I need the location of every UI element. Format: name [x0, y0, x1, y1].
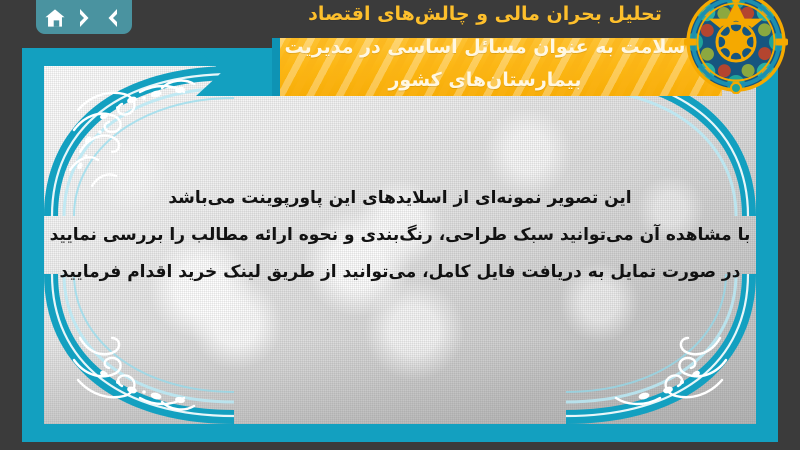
slide-canvas: این تصویر نمونه‌ای از اسلایدهای این پاور…: [22, 48, 778, 442]
bottom-shade: [44, 340, 756, 424]
slide-nav-controls: [36, 0, 132, 34]
triangle-right-icon[interactable]: [73, 6, 95, 30]
presentation-viewer: این تصویر نمونه‌ای از اسلایدهای این پاور…: [0, 0, 800, 450]
triangle-left-icon[interactable]: [102, 6, 124, 30]
title-line: تحلیل بحران مالی و چالش‌های اقتصاد: [250, 0, 720, 31]
slide-body-text: این تصویر نمونه‌ای از اسلایدهای این پاور…: [22, 180, 778, 291]
home-icon[interactable]: [44, 6, 66, 30]
body-line: در صورت تمایل به دریافت فایل کامل، می‌تو…: [22, 254, 778, 291]
body-line: با مشاهده آن می‌توانید سبک طراحی، رنگ‌بن…: [22, 217, 778, 254]
body-line: این تصویر نمونه‌ای از اسلایدهای این پاور…: [22, 180, 778, 217]
